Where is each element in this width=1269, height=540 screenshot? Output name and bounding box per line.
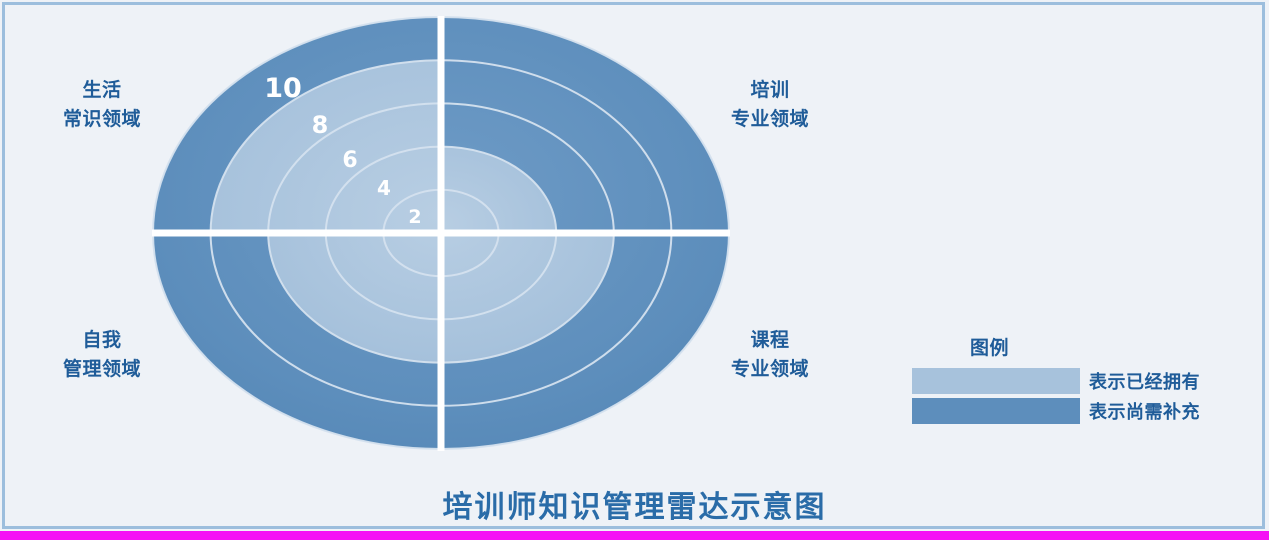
quadrant-label-bottom-left: 自我 管理领域 bbox=[22, 326, 182, 385]
quadrant-label-top-left: 生活 常识领域 bbox=[22, 76, 182, 135]
legend-swatch-needed bbox=[912, 398, 1080, 424]
legend-label-owned: 表示已经拥有 bbox=[1089, 368, 1200, 394]
radar-chart-svg: 10 8 6 4 2 bbox=[152, 16, 730, 451]
radar-chart: 10 8 6 4 2 bbox=[152, 16, 730, 451]
legend-label-needed: 表示尚需补充 bbox=[1089, 398, 1200, 424]
legend: 图例 表示已经拥有 表示尚需补充 bbox=[912, 333, 1242, 428]
quadrant-label-top-right: 培训 专业领域 bbox=[690, 76, 850, 135]
quadrant-label-top-left-line1: 生活 bbox=[82, 79, 121, 101]
legend-title: 图例 bbox=[970, 333, 1242, 360]
legend-swatch-owned bbox=[912, 368, 1080, 394]
quadrant-label-bottom-left-line1: 自我 bbox=[82, 329, 121, 351]
quadrant-label-bottom-right-line1: 课程 bbox=[750, 329, 789, 351]
legend-item-needed: 表示尚需补充 bbox=[912, 398, 1242, 424]
radar-scale-label-10: 10 bbox=[264, 73, 302, 104]
quadrant-label-bottom-right: 课程 专业领域 bbox=[690, 326, 850, 385]
bottom-accent-strip bbox=[0, 531, 1269, 540]
radar-scale-label-4: 4 bbox=[377, 176, 391, 200]
quadrant-label-top-left-line2: 常识领域 bbox=[22, 105, 182, 134]
radar-scale-label-6: 6 bbox=[342, 148, 357, 173]
quadrant-label-bottom-right-line2: 专业领域 bbox=[690, 355, 850, 384]
slide-canvas: 10 8 6 4 2 生活 常识领域 培训 专业领域 自我 管理领域 课程 专业… bbox=[0, 0, 1269, 540]
radar-scale-label-2: 2 bbox=[408, 206, 421, 228]
quadrant-label-top-right-line1: 培训 bbox=[750, 79, 789, 101]
legend-item-owned: 表示已经拥有 bbox=[912, 368, 1242, 394]
quadrant-label-top-right-line2: 专业领域 bbox=[690, 105, 850, 134]
radar-scale-label-8: 8 bbox=[312, 111, 329, 139]
page-title: 培训师知识管理雷达示意图 bbox=[0, 482, 1269, 526]
quadrant-label-bottom-left-line2: 管理领域 bbox=[22, 355, 182, 384]
